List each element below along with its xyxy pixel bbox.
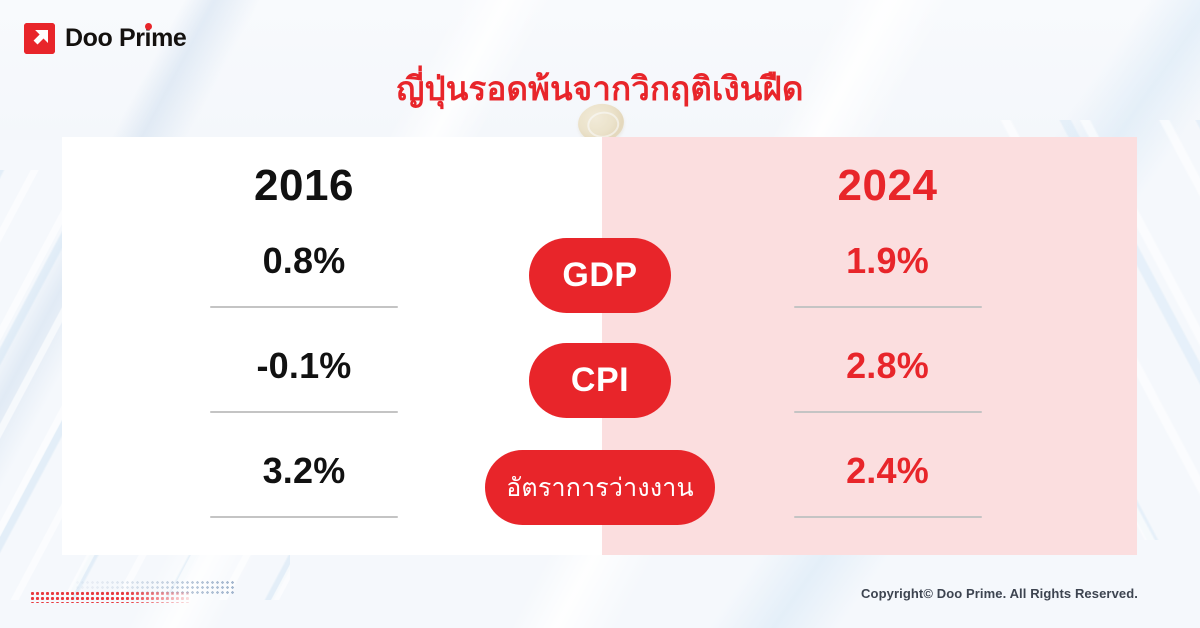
metric-label-unemployment[interactable]: อัตราการว่างงาน	[485, 450, 715, 525]
metric-label-cpi[interactable]: CPI	[529, 343, 671, 418]
metric-cell-gdp-2024: 1.9%	[650, 235, 1125, 340]
metric-cell-unemployment-2024: 2.4%	[650, 445, 1125, 550]
metric-divider	[210, 411, 398, 413]
infographic-canvas: Doo Prime ญี่ปุ่นรอดพ้นจากวิกฤติเงินฝืด …	[0, 0, 1200, 628]
metric-cell-cpi-2016: -0.1%	[62, 340, 546, 445]
column-2016-header: 2016	[62, 137, 546, 235]
copyright-text: Copyright© Doo Prime. All Rights Reserve…	[861, 586, 1138, 601]
metric-divider	[794, 516, 982, 518]
dot-pattern-decoration	[30, 580, 235, 604]
metric-divider	[794, 306, 982, 308]
metric-divider	[210, 306, 398, 308]
metric-cell-gdp-2016: 0.8%	[62, 235, 546, 340]
metric-value-unemployment-2024: 2.4%	[846, 453, 929, 489]
metric-cell-cpi-2024: 2.8%	[650, 340, 1125, 445]
page-title: ญี่ปุ่นรอดพ้นจากวิกฤติเงินฝืด	[0, 68, 1200, 109]
column-2016: 2016 0.8% -0.1% 3.2%	[62, 137, 546, 555]
dot-pattern-red	[30, 591, 190, 603]
brand-name: Doo Prime	[65, 24, 186, 53]
brand-name-text: Doo Prime	[65, 24, 186, 52]
metric-value-gdp-2016: 0.8%	[263, 243, 346, 279]
metric-value-gdp-2024: 1.9%	[846, 243, 929, 279]
metric-divider	[794, 411, 982, 413]
column-2024-header: 2024	[650, 137, 1125, 235]
metric-divider	[210, 516, 398, 518]
dot-pattern-blue	[75, 580, 235, 596]
metric-cell-unemployment-2016: 3.2%	[62, 445, 546, 550]
doo-prime-logo-mark-icon	[24, 23, 55, 54]
metric-value-cpi-2024: 2.8%	[846, 348, 929, 384]
brand-logo[interactable]: Doo Prime	[24, 23, 186, 54]
metric-value-cpi-2016: -0.1%	[256, 348, 351, 384]
metric-label-gdp[interactable]: GDP	[529, 238, 671, 313]
column-2024: 2024 1.9% 2.8% 2.4%	[650, 137, 1125, 555]
metric-value-unemployment-2016: 3.2%	[263, 453, 346, 489]
